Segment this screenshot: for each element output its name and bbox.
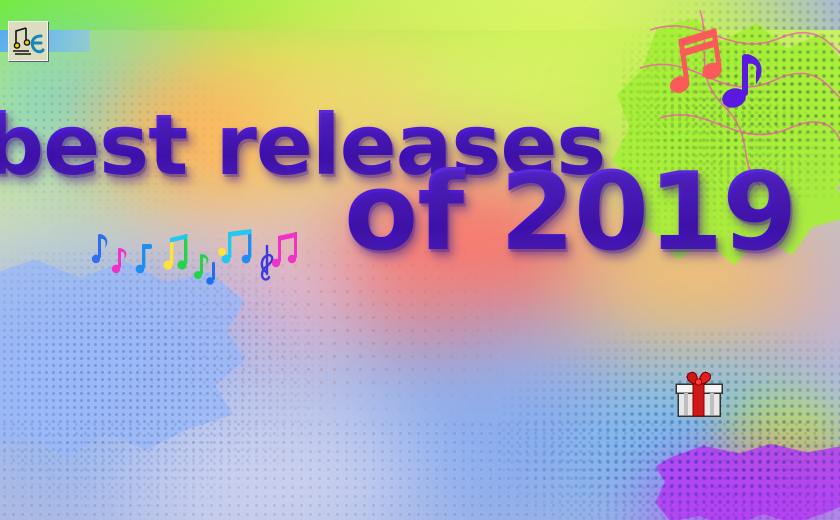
music-note-icon (712, 50, 768, 112)
gift-icon (672, 368, 726, 422)
music-notes-icon (88, 228, 300, 290)
music-document-icon[interactable] (8, 21, 48, 61)
music-document-glyph (9, 22, 47, 60)
headline-line-2: of 2019 (344, 150, 796, 275)
banner-canvas: best releases of 2019 (0, 0, 840, 520)
